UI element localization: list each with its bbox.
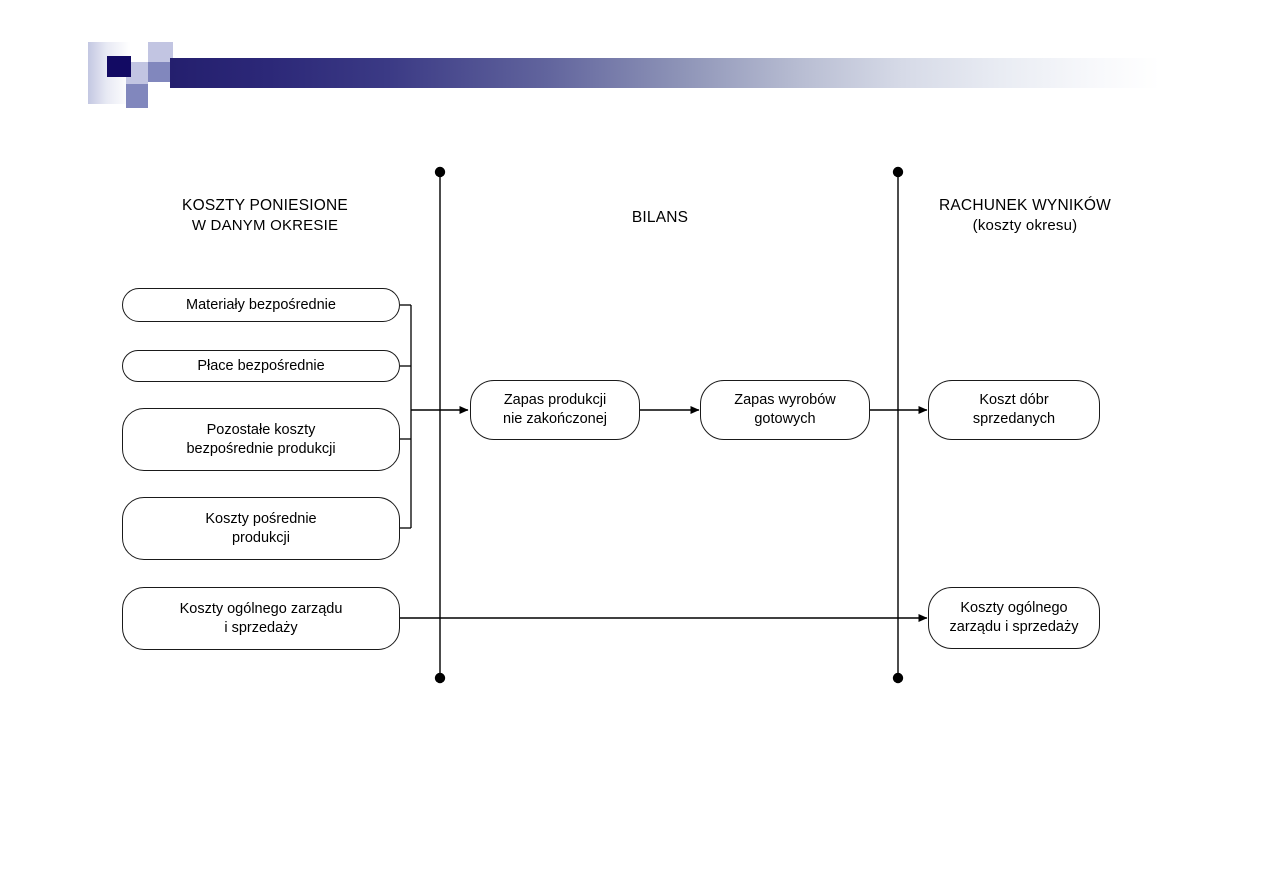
node-pozostale-koszty-bezposrednie-produkcji[interactable]: Pozostałe koszty bezpośrednie produkcji [122, 408, 400, 471]
node-zapas-produkcji-nie-zakonczonej[interactable]: Zapas produkcji nie zakończonej [470, 380, 640, 440]
divider-right [893, 167, 903, 683]
divider-left [435, 167, 445, 683]
node-koszt-dobr-sprzedanych[interactable]: Koszt dóbr sprzedanych [928, 380, 1100, 440]
divider-left-top-dot [435, 167, 445, 177]
divider-left-bottom-dot [435, 673, 445, 683]
node-zapas-wyrobow-gotowych[interactable]: Zapas wyrobów gotowych [700, 380, 870, 440]
divider-right-top-dot [893, 167, 903, 177]
bracket-manifold [400, 305, 411, 528]
node-koszty-ogolnego-zarzadu-i-sprzedazy-right[interactable]: Koszty ogólnego zarządu i sprzedaży [928, 587, 1100, 649]
node-koszty-posrednie-produkcji[interactable]: Koszty pośrednie produkcji [122, 497, 400, 560]
node-materialy-bezposrednie[interactable]: Materiały bezpośrednie [122, 288, 400, 322]
node-place-bezposrednie[interactable]: Płace bezpośrednie [122, 350, 400, 382]
divider-right-bottom-dot [893, 673, 903, 683]
node-koszty-ogolnego-zarzadu-i-sprzedazy-left[interactable]: Koszty ogólnego zarządu i sprzedaży [122, 587, 400, 650]
